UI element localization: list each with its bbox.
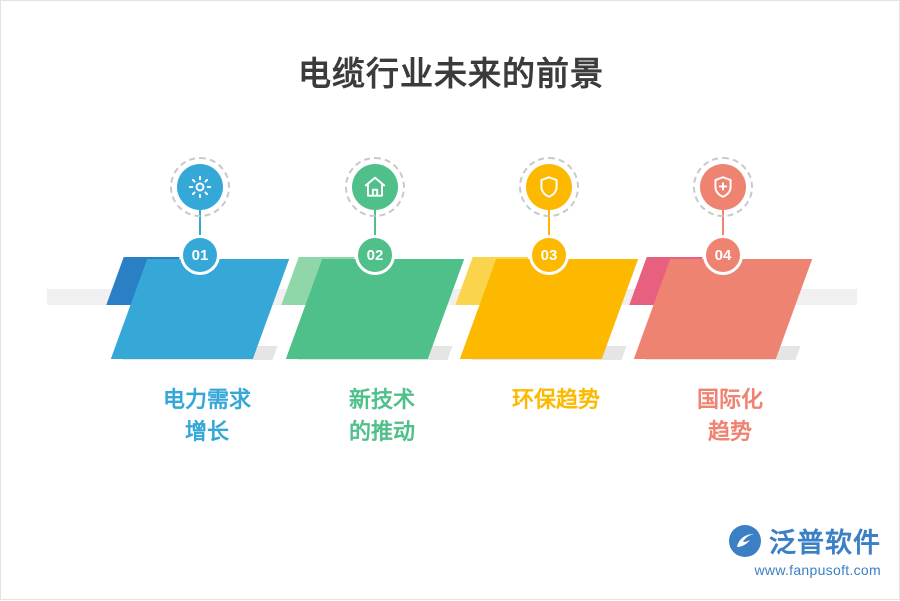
step-number-badge: 01 [180,235,220,275]
step-number-badge: 03 [529,235,569,275]
step-02: 02 新技术 的推动 [282,1,482,601]
step-01: 01 电力需求 增长 [107,1,307,601]
step-label-line2: 趋势 [620,417,840,449]
step-label: 国际化 趋势 [620,385,840,449]
brand-logo[interactable]: 泛普软件 www.fanpusoft.com [701,521,881,577]
step-number-badge: 04 [703,235,743,275]
step-04: 04 国际化 趋势 [630,1,830,601]
logo-row: 泛普软件 [701,521,881,560]
shield-plus-icon [700,164,746,210]
diagram-canvas: 电缆行业未来的前景 01 电力需求 增长 [0,0,900,600]
fanpu-logo-icon [727,523,763,559]
step-label-line1: 国际化 [620,385,840,417]
step-number-badge: 02 [355,235,395,275]
step-03: 03 环保趋势 [456,1,656,601]
logo-url: www.fanpusoft.com [701,562,881,578]
gear-icon [177,164,223,210]
home-icon [352,164,398,210]
shield-icon [526,164,572,210]
logo-text: 泛普软件 [769,521,881,560]
